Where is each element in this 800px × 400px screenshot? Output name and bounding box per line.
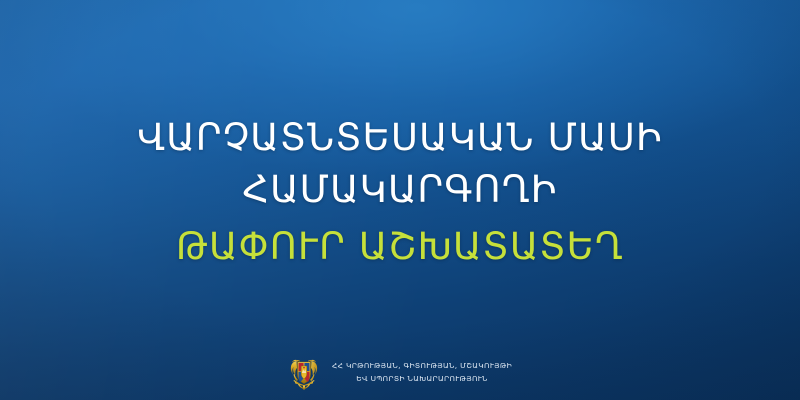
announcement-banner: ՎԱՐՉԱՏՆՏԵՍԱԿԱՆ ՄԱՍԻ ՀԱՄԱԿԱՐԳՈՂԻ ԹԱՓՈՒՐ Ա… xyxy=(0,0,800,400)
ministry-name: ՀՀ ԿՐԹՈՒԹՅԱՆ, ԳԻՏՈՒԹՅԱՆ, ՄՇԱԿՈՒՅԹԻ ԵՎ ՍՊ… xyxy=(332,360,512,384)
ministry-name-line-2: ԵՎ ՍՊՈՐՏԻ ՆԱԽԱՐԱՐՈՒԹՅՈՒՆ xyxy=(332,373,512,384)
armenia-coat-of-arms-icon xyxy=(288,354,320,390)
headline-line-1: ՎԱՐՉԱՏՆՏԵՍԱԿԱՆ ՄԱՍԻ xyxy=(40,112,760,164)
headline-block: ՎԱՐՉԱՏՆՏԵՍԱԿԱՆ ՄԱՍԻ ՀԱՄԱԿԱՐԳՈՂԻ ԹԱՓՈՒՐ Ա… xyxy=(0,112,800,273)
banner-content: ՎԱՐՉԱՏՆՏԵՍԱԿԱՆ ՄԱՍԻ ՀԱՄԱԿԱՐԳՈՂԻ ԹԱՓՈՒՐ Ա… xyxy=(0,0,800,400)
headline-line-3-vacancy: ԹԱՓՈՒՐ ԱՇԽԱՏԱՏԵՂ xyxy=(40,221,760,273)
ministry-lockup: ՀՀ ԿՐԹՈՒԹՅԱՆ, ԳԻՏՈՒԹՅԱՆ, ՄՇԱԿՈՒՅԹԻ ԵՎ ՍՊ… xyxy=(0,354,800,390)
ministry-name-line-1: ՀՀ ԿՐԹՈՒԹՅԱՆ, ԳԻՏՈՒԹՅԱՆ, ՄՇԱԿՈՒՅԹԻ xyxy=(332,360,512,371)
headline-line-2: ՀԱՄԱԿԱՐԳՈՂԻ xyxy=(40,164,760,216)
